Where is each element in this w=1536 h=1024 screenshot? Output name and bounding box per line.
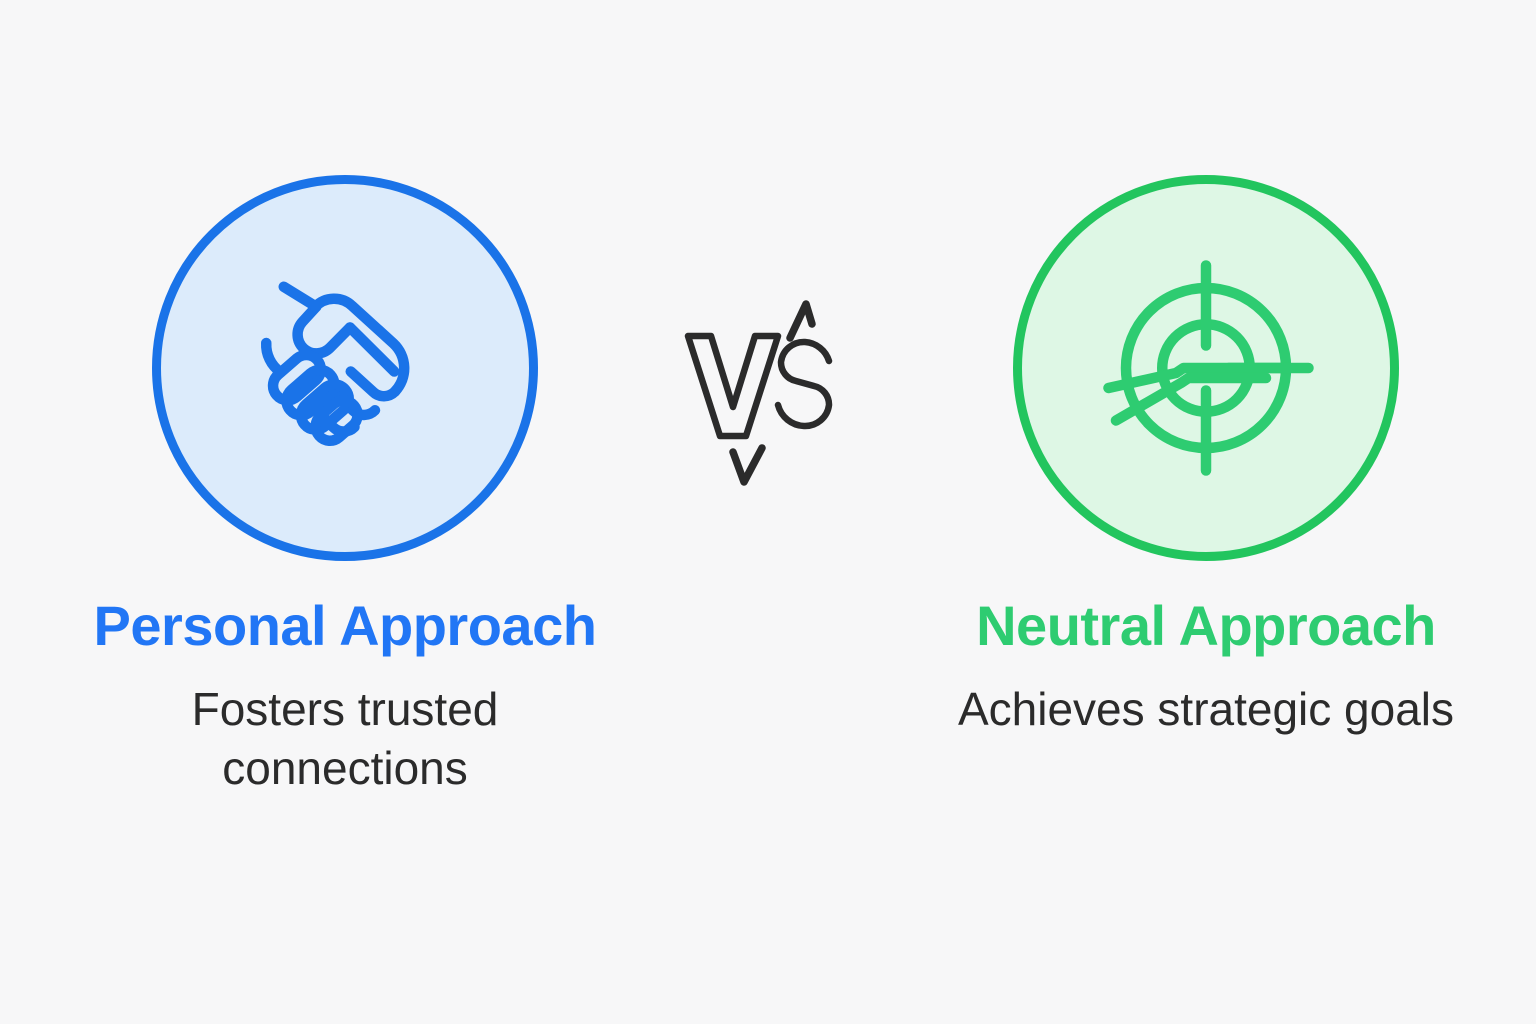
personal-approach-icon-badge [152, 175, 538, 561]
neutral-approach-description: Achieves strategic goals [958, 680, 1454, 739]
vs-divider [678, 276, 858, 496]
personal-approach-heading: Personal Approach [94, 597, 597, 656]
vs-badge-icon [678, 276, 858, 496]
handshake-icon [220, 243, 470, 493]
neutral-approach-icon-badge [1013, 175, 1399, 561]
vs-letter-s [778, 342, 829, 426]
caret-down-accent [733, 448, 762, 482]
personal-approach-description: Fosters trusted connections [65, 680, 625, 798]
comparison-column-neutral: Neutral Approach Achieves strategic goal… [896, 175, 1516, 739]
comparison-graphic: Personal Approach Fosters trusted connec… [0, 0, 1536, 1024]
target-crosshair-icon [1081, 243, 1331, 493]
caret-up-accent [790, 304, 812, 338]
vs-letter-v [688, 336, 778, 436]
neutral-approach-heading: Neutral Approach [976, 597, 1436, 656]
comparison-column-personal: Personal Approach Fosters trusted connec… [35, 175, 655, 798]
